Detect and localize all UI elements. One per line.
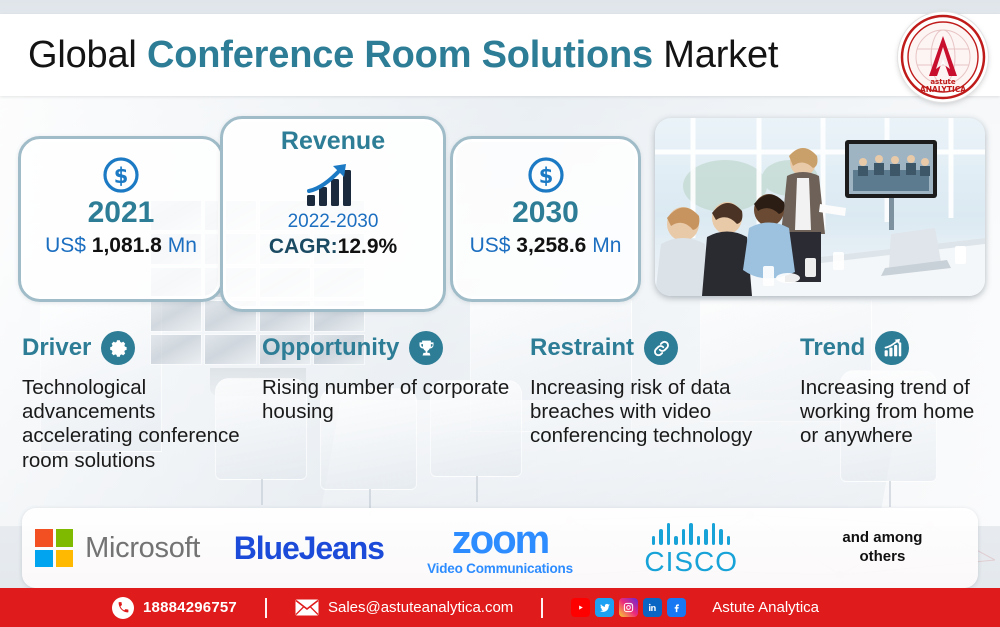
- feature-opportunity-text: Rising number of corporate housing: [262, 376, 522, 424]
- base-year-value: 2021: [21, 197, 221, 229]
- dollar-circle-icon: $: [101, 155, 141, 195]
- dollar-circle-icon: $: [526, 155, 566, 195]
- feature-opportunity-head: Opportunity: [262, 328, 522, 368]
- feature-trend-title: Trend: [800, 336, 865, 360]
- envelope-icon: [295, 599, 319, 616]
- forecast-year-card: $ 2030 US$ 3,258.6 Mn: [450, 136, 641, 302]
- client-cisco[interactable]: CISCO: [596, 508, 787, 588]
- revenue-cagr-card: Revenue 2022-2030 CAGR:12.9%: [220, 116, 446, 312]
- cagr-label: CAGR:: [269, 235, 338, 258]
- revenue-card-title: Revenue: [223, 129, 443, 154]
- feature-driver-title: Driver: [22, 336, 91, 360]
- base-year-currency: US$: [45, 234, 86, 257]
- feature-trend: Trend Increasing trend of working from h…: [800, 328, 995, 449]
- client-zoom[interactable]: zoom Video Communications: [404, 508, 595, 588]
- page-title: Global Conference Room Solutions Market: [28, 36, 778, 74]
- header-bar: Global Conference Room Solutions Market …: [0, 14, 1000, 96]
- phone-icon: [112, 597, 134, 619]
- forecast-year-market-size: US$ 3,258.6 Mn: [453, 233, 638, 258]
- feature-opportunity-title: Opportunity: [262, 336, 399, 360]
- feature-restraint-head: Restraint: [530, 328, 800, 368]
- svg-text:$: $: [114, 164, 129, 188]
- base-year-unit: Mn: [168, 234, 197, 257]
- twitter-icon[interactable]: [595, 598, 614, 617]
- forecast-year-currency: US$: [470, 234, 511, 257]
- feature-trend-head: Trend: [800, 328, 995, 368]
- forecast-period: 2022-2030: [223, 210, 443, 234]
- linkedin-icon[interactable]: [643, 598, 662, 617]
- and-among-others-label: and among others: [842, 529, 922, 567]
- others-line2: others: [859, 548, 905, 565]
- cisco-bridge-icon: [644, 521, 738, 545]
- microsoft-logo-icon: [35, 529, 73, 567]
- feature-restraint-text: Increasing risk of data breaches with vi…: [530, 376, 800, 449]
- forecast-year-number: 3,258.6: [516, 234, 586, 257]
- svg-text:$: $: [538, 164, 553, 188]
- infographic-root: Global Conference Room Solutions Market …: [0, 0, 1000, 627]
- zoom-tagline: Video Communications: [427, 561, 573, 576]
- feature-driver-head: Driver: [22, 328, 262, 368]
- feature-trend-text: Increasing trend of working from home or…: [800, 376, 995, 449]
- key-players-strip: Microsoft BlueJeans zoom Video Communica…: [22, 508, 978, 588]
- title-prefix: Global: [28, 34, 147, 76]
- feature-driver: Driver Technological advancements accele…: [22, 328, 262, 473]
- gear-icon: [101, 331, 135, 365]
- cagr-value: 12.9%: [338, 235, 398, 258]
- footer-divider-2: [541, 598, 543, 618]
- link-chain-icon: [644, 331, 678, 365]
- forecast-year-value: 2030: [453, 197, 638, 229]
- conference-room-photo: [655, 118, 985, 296]
- astute-analytica-logo[interactable]: astute ANALYTICA: [898, 12, 988, 102]
- cagr-row: CAGR:12.9%: [223, 234, 443, 260]
- footer-email-address: Sales@astuteanalytica.com: [328, 599, 513, 616]
- bluejeans-label: BlueJeans: [234, 530, 384, 567]
- conference-room-illustration: [655, 118, 985, 296]
- base-year-market-size: US$ 1,081.8 Mn: [21, 233, 221, 258]
- feature-restraint-title: Restraint: [530, 336, 634, 360]
- base-year-number: 1,081.8: [92, 234, 162, 257]
- footer-phone[interactable]: 18884296757: [112, 597, 237, 619]
- footer-social-links[interactable]: [571, 598, 686, 617]
- cisco-label: CISCO: [644, 548, 738, 576]
- zoom-label: zoom: [427, 521, 573, 559]
- feature-opportunity: Opportunity Rising number of corporate h…: [262, 328, 522, 424]
- facebook-icon[interactable]: [667, 598, 686, 617]
- client-others: and among others: [787, 508, 978, 588]
- title-accent: Conference Room Solutions: [147, 34, 653, 76]
- footer-email[interactable]: Sales@astuteanalytica.com: [295, 599, 513, 616]
- market-dynamics-row: Driver Technological advancements accele…: [0, 328, 1000, 510]
- client-bluejeans[interactable]: BlueJeans: [213, 508, 404, 588]
- growth-bar-chart-icon: [303, 162, 363, 208]
- trophy-icon: [409, 331, 443, 365]
- contact-footer: 18884296757 Sales@astuteanalytica.com: [0, 588, 1000, 627]
- title-suffix: Market: [653, 34, 778, 76]
- youtube-icon[interactable]: [571, 598, 590, 617]
- client-microsoft[interactable]: Microsoft: [22, 508, 213, 588]
- microsoft-label: Microsoft: [85, 532, 200, 565]
- instagram-icon[interactable]: [619, 598, 638, 617]
- forecast-year-unit: Mn: [592, 234, 621, 257]
- trend-chart-icon: [875, 331, 909, 365]
- svg-text:ANALYTICA: ANALYTICA: [920, 85, 966, 94]
- base-year-card: $ 2021 US$ 1,081.8 Mn: [18, 136, 224, 302]
- others-line1: and among: [842, 529, 922, 546]
- feature-driver-text: Technological advancements accelerating …: [22, 376, 262, 473]
- logo-mark-icon: astute ANALYTICA: [900, 14, 986, 100]
- footer-brand-name: Astute Analytica: [712, 599, 819, 616]
- feature-restraint: Restraint Increasing risk of data breach…: [530, 328, 800, 449]
- footer-divider-1: [265, 598, 267, 618]
- footer-phone-number: 18884296757: [143, 599, 237, 616]
